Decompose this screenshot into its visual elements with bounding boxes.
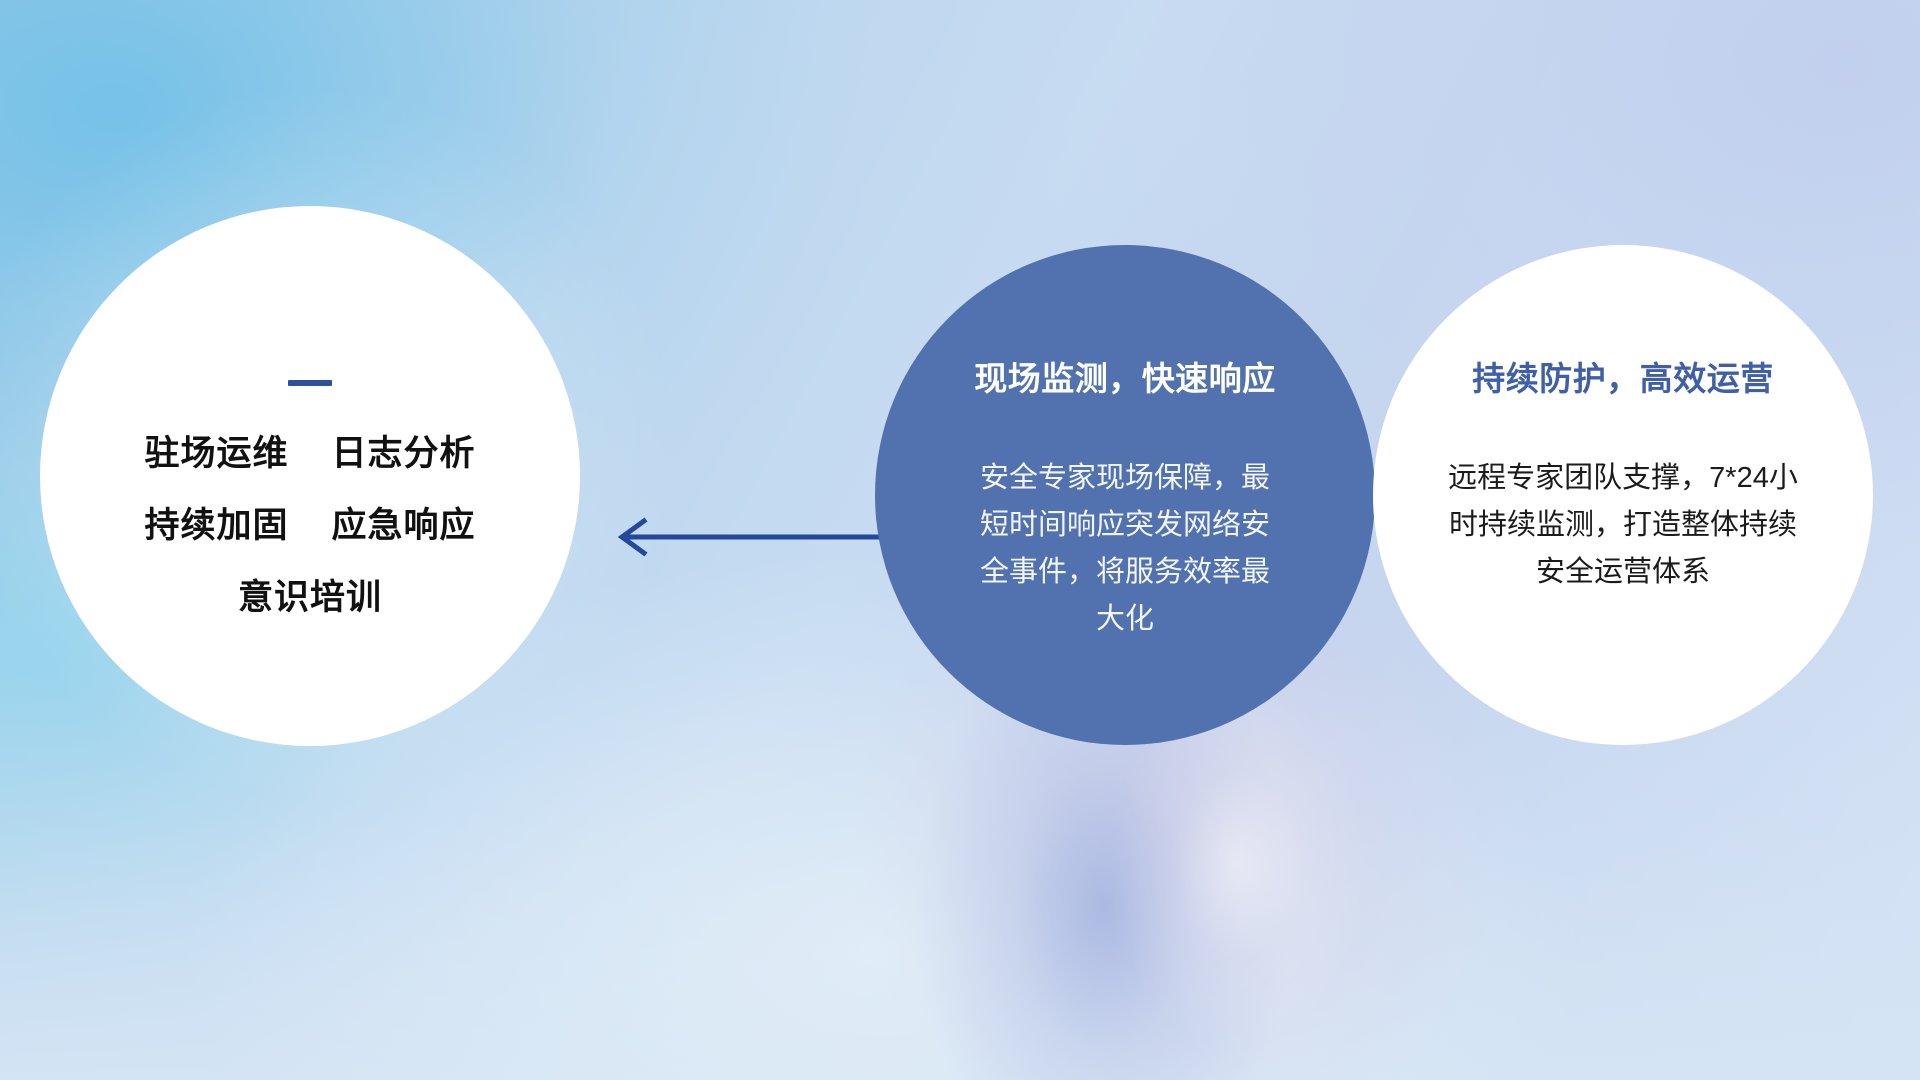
capability-line-1: 驻场运维 日志分析 (145, 436, 476, 473)
continuous-protection-body: 远程专家团队支撑，7*24小时持续监测，打造整体持续安全运营体系 (1448, 455, 1798, 596)
capability-line-3: 意识培训 (238, 580, 382, 617)
onsite-monitoring-title: 现场监测，快速响应 (974, 361, 1276, 397)
arrow-left-icon (604, 516, 890, 558)
service-capabilities-circle: 驻场运维 日志分析 持续加固 应急响应 意识培训 (40, 206, 580, 746)
onsite-monitoring-body: 安全专家现场保障，最短时间响应突发网络安全事件，将服务效率最大化 (970, 455, 1280, 643)
onsite-monitoring-circle: 现场监测，快速响应 安全专家现场保障，最短时间响应突发网络安全事件，将服务效率最… (875, 245, 1375, 745)
continuous-protection-circle: 持续防护，高效运营 远程专家团队支撑，7*24小时持续监测，打造整体持续安全运营… (1373, 245, 1873, 745)
continuous-protection-title: 持续防护，高效运营 (1472, 361, 1774, 397)
horizontal-rule-icon (288, 380, 332, 386)
capability-line-2: 持续加固 应急响应 (145, 508, 476, 545)
